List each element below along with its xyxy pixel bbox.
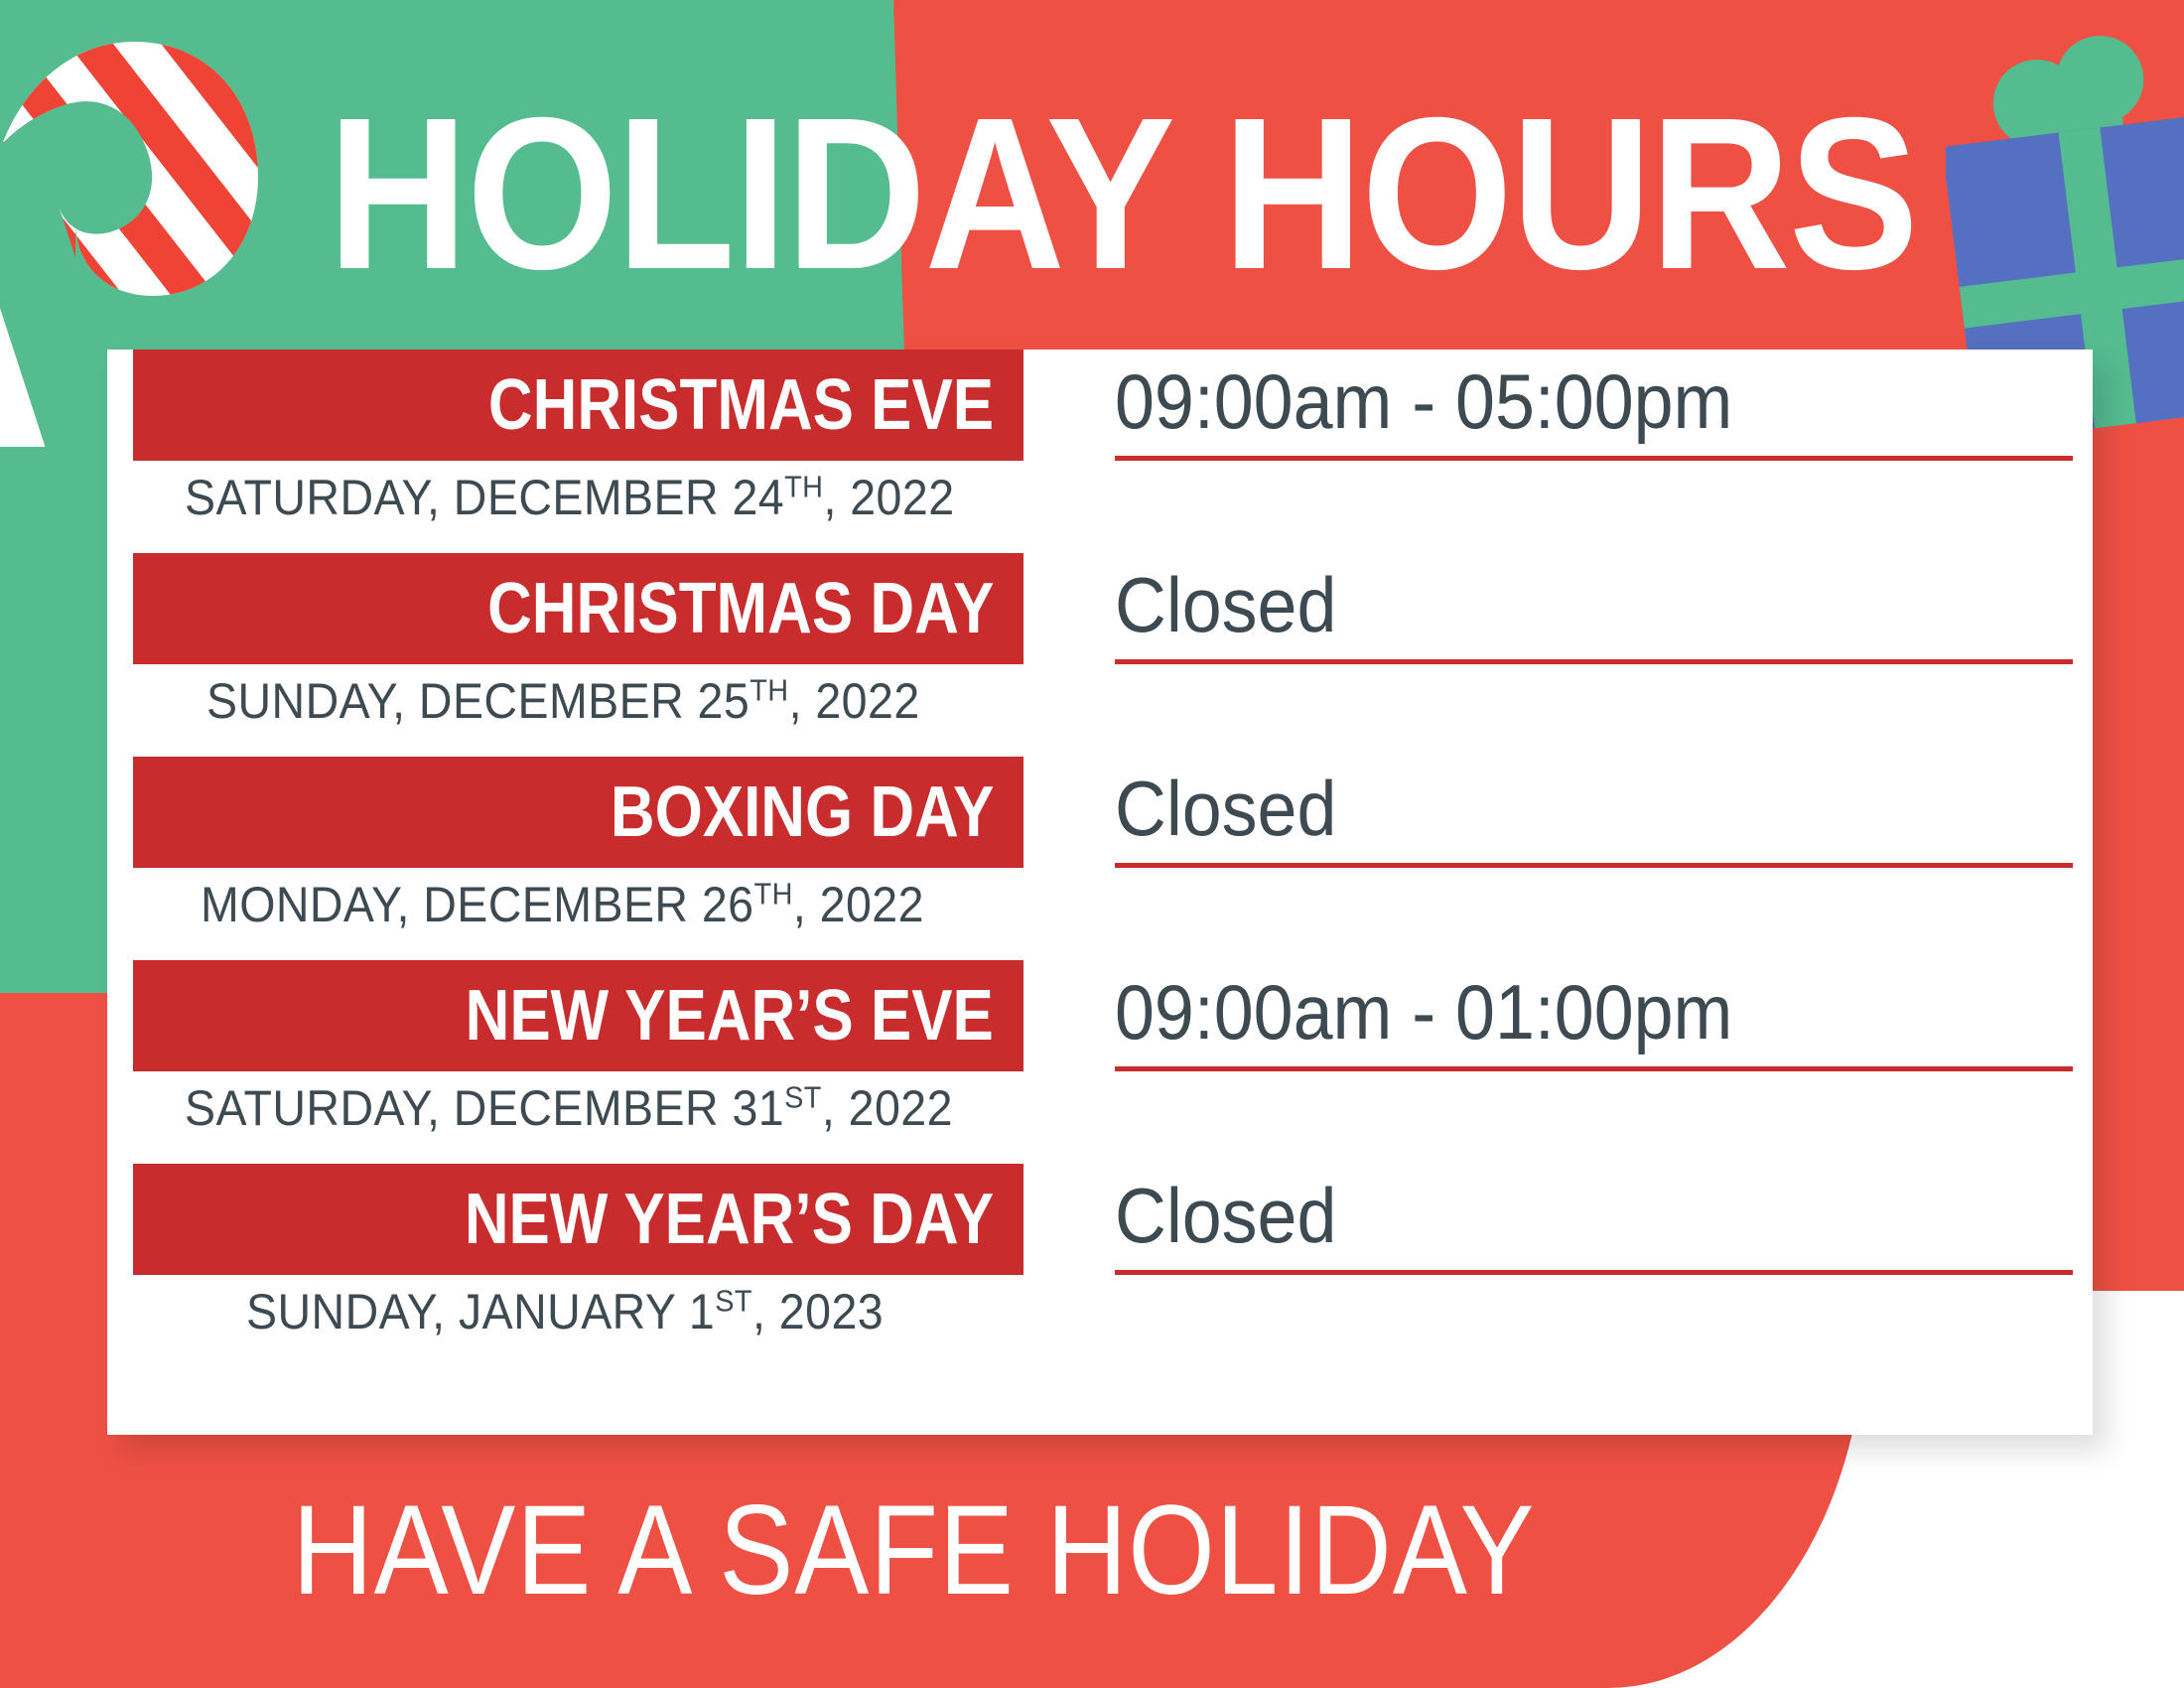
holiday-date-prefix: SATURDAY, DECEMBER 31: [185, 1080, 784, 1136]
holiday-hours-value: Closed: [1115, 1177, 1336, 1254]
holiday-hours-cell: 09:00am - 01:00pm: [1115, 956, 2073, 1071]
holiday-date-prefix: SATURDAY, DECEMBER 24: [185, 470, 784, 525]
hours-table: CHRISTMAS EVE 09:00am - 05:00pm SATURDAY…: [107, 350, 2093, 1164]
holiday-name: NEW YEAR’S DAY: [465, 1184, 994, 1255]
holiday-date-ordinal: ST: [784, 1079, 822, 1114]
holiday-name-bar: CHRISTMAS EVE: [133, 350, 1024, 461]
holiday-date-prefix: MONDAY, DECEMBER 26: [201, 877, 754, 932]
holiday-name-bar: NEW YEAR’S EVE: [133, 960, 1024, 1071]
holiday-hours-value: Closed: [1115, 566, 1336, 643]
holiday-hours-cell: 09:00am - 05:00pm: [1115, 346, 2073, 461]
holiday-date-ordinal: TH: [754, 876, 793, 911]
holiday-date: SATURDAY, DECEMBER 24TH, 2022: [185, 467, 955, 529]
holiday-hours-value: 09:00am - 01:00pm: [1115, 973, 1732, 1051]
holiday-date-prefix: SUNDAY, DECEMBER 25: [206, 673, 750, 729]
holiday-name-bar: BOXING DAY: [133, 757, 1024, 868]
holiday-date: MONDAY, DECEMBER 26TH, 2022: [201, 874, 924, 936]
holiday-date-ordinal: TH: [750, 672, 788, 707]
holiday-hours-value: Closed: [1115, 770, 1336, 847]
footer-message: HAVE A SAFE HOLIDAY: [292, 1487, 1535, 1615]
holiday-date-ordinal: TH: [784, 469, 823, 503]
holiday-date-suffix: , 2022: [793, 877, 924, 932]
holiday-name: BOXING DAY: [610, 776, 994, 848]
footer: HAVE A SAFE HOLIDAY: [0, 1487, 1827, 1615]
holiday-hours-cell: Closed: [1115, 753, 2073, 868]
holiday-date-ordinal: ST: [715, 1283, 752, 1318]
holiday-name: NEW YEAR’S EVE: [466, 980, 994, 1052]
holiday-hours-cell: Closed: [1115, 549, 2073, 664]
holiday-date-suffix: , 2022: [823, 470, 954, 525]
hours-card: CHRISTMAS EVE 09:00am - 05:00pm SATURDAY…: [107, 350, 2093, 1435]
holiday-date-suffix: , 2022: [789, 673, 920, 729]
holiday-date-prefix: SUNDAY, JANUARY 1: [246, 1284, 715, 1339]
holiday-name: CHRISTMAS DAY: [487, 573, 994, 644]
holiday-date: SATURDAY, DECEMBER 31ST, 2022: [185, 1077, 953, 1140]
holiday-hours-cell: Closed: [1115, 1160, 2073, 1275]
holiday-name-bar: NEW YEAR’S DAY: [133, 1164, 1024, 1275]
holiday-date: SUNDAY, JANUARY 1ST, 2023: [246, 1281, 884, 1343]
holiday-date-suffix: , 2022: [822, 1080, 953, 1136]
holiday-date: SUNDAY, DECEMBER 25TH, 2022: [206, 670, 920, 733]
holiday-date-suffix: , 2023: [752, 1284, 884, 1339]
holiday-hours-poster: HOLIDAY HOURS CHRISTMAS EVE 09:00am - 05…: [0, 0, 2184, 1688]
table-row: BOXING DAY Closed MONDAY, DECEMBER 26TH,…: [107, 757, 2093, 960]
holiday-name-bar: CHRISTMAS DAY: [133, 553, 1024, 664]
holiday-hours-value: 09:00am - 05:00pm: [1115, 362, 1732, 440]
holiday-name: CHRISTMAS EVE: [488, 369, 994, 441]
table-row: CHRISTMAS EVE 09:00am - 05:00pm SATURDAY…: [107, 350, 2093, 553]
page-title: HOLIDAY HOURS: [328, 95, 1917, 295]
table-row: NEW YEAR’S EVE 09:00am - 01:00pm SATURDA…: [107, 960, 2093, 1164]
table-row: CHRISTMAS DAY Closed SUNDAY, DECEMBER 25…: [107, 553, 2093, 757]
